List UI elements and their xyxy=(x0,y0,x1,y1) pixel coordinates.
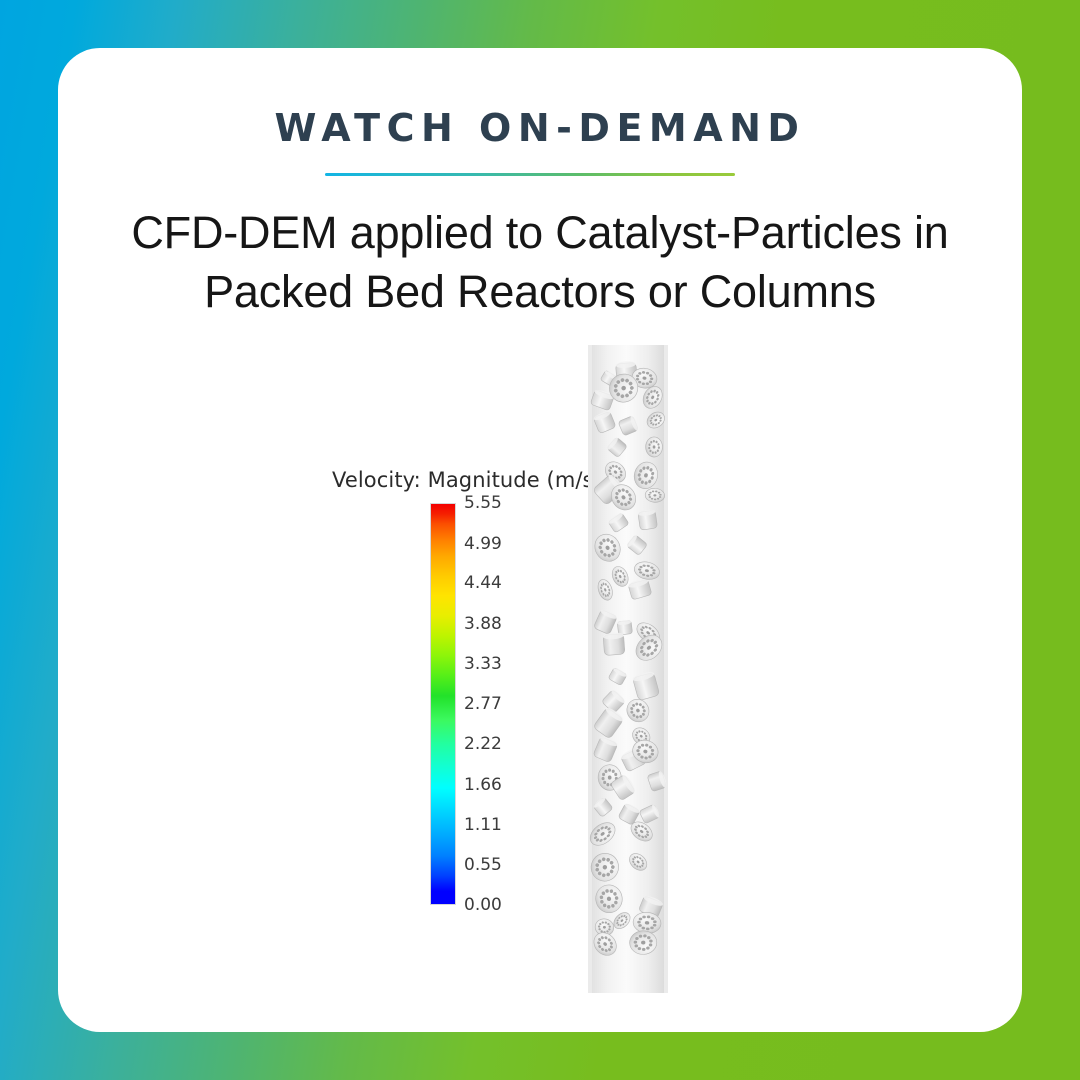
colorbar-tick: 2.22 xyxy=(464,734,502,754)
colorbar-tick: 1.66 xyxy=(464,775,502,795)
colorbar-gradient xyxy=(430,503,456,905)
colorbar-title: Velocity: Magnitude (m/s) xyxy=(332,468,602,492)
colorbar-tick: 3.33 xyxy=(464,654,502,674)
colorbar-tick: 1.11 xyxy=(464,815,502,835)
simulation-viewport xyxy=(588,345,668,993)
simulation-figure: Velocity: Magnitude (m/s) 5.554.994.443.… xyxy=(58,48,1022,1032)
colorbar-tick: 0.55 xyxy=(464,855,502,875)
colorbar-tick: 0.00 xyxy=(464,895,502,915)
colorbar-tick: 4.44 xyxy=(464,573,502,593)
content-card: WATCH ON-DEMAND CFD-DEM applied to Catal… xyxy=(58,48,1022,1032)
colorbar-tick: 3.88 xyxy=(464,614,502,634)
colorbar-tick: 4.99 xyxy=(464,534,502,554)
catalyst-particles-render xyxy=(588,345,668,993)
colorbar-tick: 5.55 xyxy=(464,493,502,513)
colorbar-tick: 2.77 xyxy=(464,694,502,714)
colorbar: 5.554.994.443.883.332.772.221.661.110.55… xyxy=(430,503,456,905)
gradient-frame: WATCH ON-DEMAND CFD-DEM applied to Catal… xyxy=(0,0,1080,1080)
